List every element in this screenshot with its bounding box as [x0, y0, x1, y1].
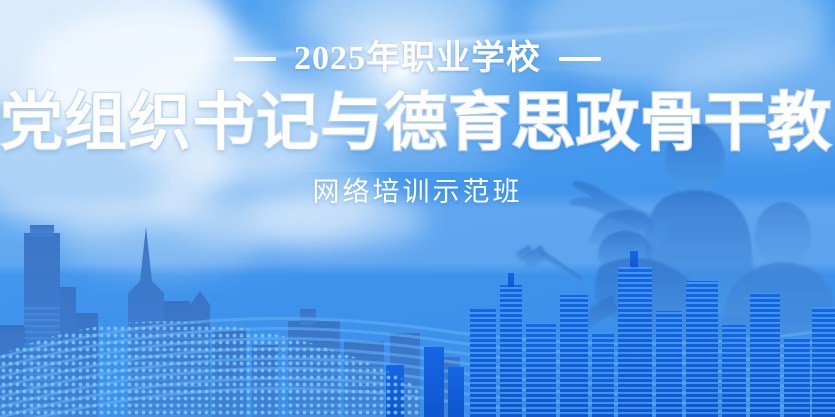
eyebrow-text: 2025年职业学校: [294, 42, 541, 76]
eyebrow-line: 2025年职业学校: [0, 42, 835, 76]
page-title: 党组织书记与德育思政骨干教师: [0, 88, 835, 159]
subtitle: 网络培训示范班: [0, 179, 835, 206]
right-dash-icon: [559, 57, 601, 61]
left-dash-icon: [234, 57, 276, 61]
training-banner: 2025年职业学校 党组织书记与德育思政骨干教师 网络培训示范班: [0, 0, 835, 417]
